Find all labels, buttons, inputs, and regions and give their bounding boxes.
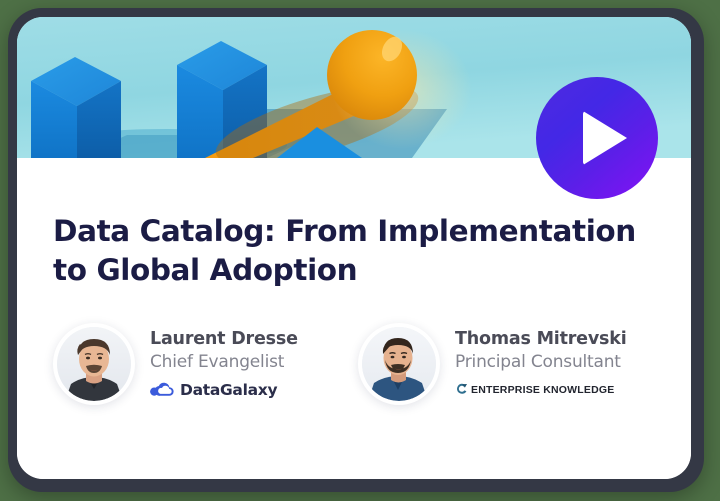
orange-sphere bbox=[327, 30, 417, 120]
speaker-role: Principal Consultant bbox=[455, 351, 627, 373]
speaker-name: Thomas Mitrevski bbox=[455, 329, 627, 351]
company-name-prefix: ENTERPRISE bbox=[471, 384, 540, 396]
webinar-card: Data Catalog: From Implementationto Glob… bbox=[17, 17, 691, 479]
company-name: DataGalaxy bbox=[180, 381, 277, 399]
enterprise-knowledge-swirl-icon bbox=[455, 383, 468, 396]
datagalaxy-cloud-icon bbox=[150, 381, 174, 398]
title-line-1: Data Catalog: From Implementation bbox=[53, 214, 636, 248]
speaker-name: Laurent Dresse bbox=[150, 329, 298, 351]
speaker-role: Chief Evangelist bbox=[150, 351, 298, 373]
company-name: ENTERPRISE KNOWLEDGE bbox=[471, 384, 614, 396]
card-body: Data Catalog: From Implementationto Glob… bbox=[17, 158, 691, 479]
speaker-card-1: Laurent Dresse Chief Evangelist DataGala… bbox=[53, 323, 358, 405]
speaker-company-logo-1: DataGalaxy bbox=[150, 380, 298, 399]
play-button[interactable] bbox=[536, 77, 658, 199]
title-line-2: to Global Adoption bbox=[53, 253, 357, 287]
avatar-laurent-dresse bbox=[57, 327, 131, 401]
speaker-info-1: Laurent Dresse Chief Evangelist DataGala… bbox=[150, 329, 298, 400]
avatar bbox=[53, 323, 135, 405]
speakers-list: Laurent Dresse Chief Evangelist DataGala… bbox=[53, 323, 663, 405]
avatar-thomas-mitrevski bbox=[362, 327, 436, 401]
play-triangle-icon bbox=[583, 111, 627, 165]
speaker-info-2: Thomas Mitrevski Principal Consultant EN… bbox=[455, 329, 627, 400]
avatar bbox=[358, 323, 440, 405]
company-name-suffix: KNOWLEDGE bbox=[543, 384, 614, 396]
page-title: Data Catalog: From Implementationto Glob… bbox=[53, 212, 643, 290]
avatar-photo-thomas bbox=[362, 327, 436, 401]
speaker-company-logo-2: ENTERPRISE KNOWLEDGE bbox=[455, 380, 627, 399]
avatar-photo-laurent bbox=[57, 327, 131, 401]
speaker-card-2: Thomas Mitrevski Principal Consultant EN… bbox=[358, 323, 663, 405]
